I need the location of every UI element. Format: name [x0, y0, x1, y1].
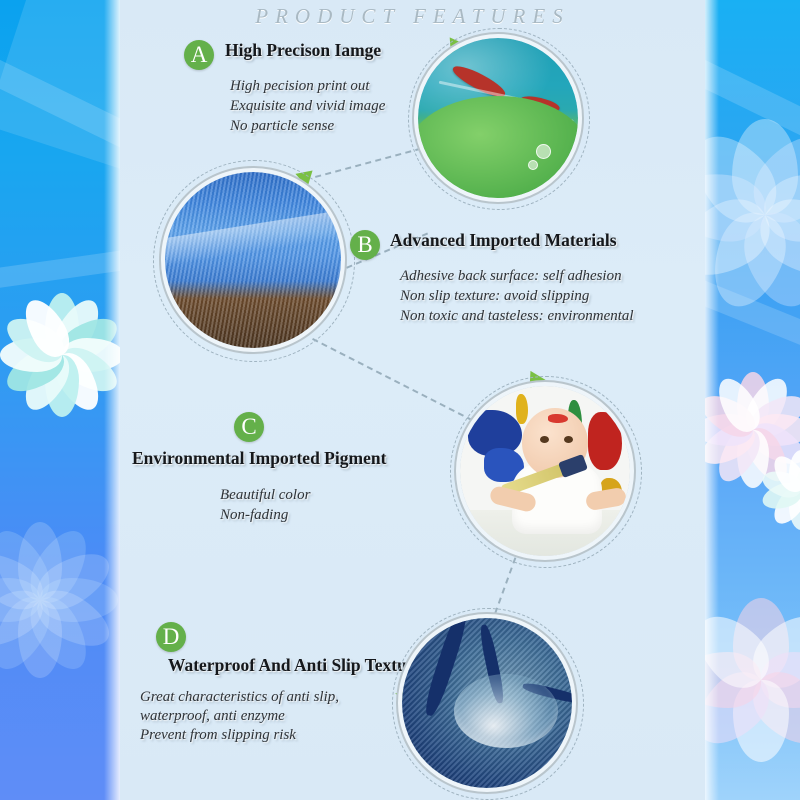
feature-heading-c: Environmental Imported Pigment — [132, 448, 386, 469]
bubble-shape — [528, 160, 538, 170]
feature-line: Non toxic and tasteless: environmental — [400, 306, 634, 326]
baby-eye — [540, 436, 549, 443]
content-panel: PRODUCT FEATURES A High Precison Iamge H… — [120, 0, 705, 800]
droplet-texture-artwork — [402, 618, 572, 788]
photo-inner — [418, 38, 578, 198]
feature-line: Exquisite and vivid image — [230, 96, 385, 116]
feature-line: Prevent from slipping risk — [140, 726, 339, 745]
paint-splatter — [588, 412, 622, 470]
feature-body-d: Great characteristics of anti slip, wate… — [140, 688, 339, 745]
fabric-roll-artwork — [165, 172, 341, 348]
feature-line: No particle sense — [230, 116, 385, 136]
feature-line: High pecision print out — [230, 76, 385, 96]
photo-koi-fish-pond — [418, 38, 578, 198]
feature-body-a: High pecision print out Exquisite and vi… — [230, 76, 385, 136]
koi-pond-artwork — [418, 38, 578, 198]
badge-letter-b: B — [350, 230, 380, 260]
badge-letter-d: D — [156, 622, 186, 652]
photo-inner — [402, 618, 572, 788]
feature-body-c: Beautiful color Non-fading — [220, 485, 310, 525]
right-decorative-border — [705, 0, 800, 800]
photo-inner — [460, 386, 630, 556]
baby-painting-artwork — [460, 386, 630, 556]
page-title: PRODUCT FEATURES — [120, 4, 705, 29]
decor-band — [0, 234, 120, 296]
paint-splatter — [548, 414, 568, 423]
baby-eye — [564, 436, 573, 443]
feature-line: Adhesive back surface: self adhesion — [400, 266, 634, 286]
feature-heading-b: Advanced Imported Materials — [390, 230, 617, 251]
photo-baby-painting — [460, 386, 630, 556]
product-features-poster: PRODUCT FEATURES A High Precison Iamge H… — [0, 0, 800, 800]
feature-line: Great characteristics of anti slip, — [140, 688, 339, 707]
feature-line: waterproof, anti enzyme — [140, 707, 339, 726]
feature-heading-a: High Precison Iamge — [225, 40, 381, 61]
left-decorative-border — [0, 0, 120, 800]
water-droplet-shape — [454, 674, 558, 748]
badge-letter-c: C — [234, 412, 264, 442]
photo-water-droplet-texture — [402, 618, 572, 788]
bubble-shape — [536, 144, 551, 159]
photo-inner — [165, 172, 341, 348]
paint-splatter — [516, 394, 528, 424]
lily-pad-shape — [418, 96, 578, 198]
feature-line: Non slip texture: avoid slipping — [400, 286, 634, 306]
feature-body-b: Adhesive back surface: self adhesion Non… — [400, 266, 634, 326]
feature-line: Beautiful color — [220, 485, 310, 505]
badge-letter-a: A — [184, 40, 214, 70]
feature-line: Non-fading — [220, 505, 310, 525]
photo-blue-fabric-roll — [165, 172, 341, 348]
fabric-highlight — [165, 209, 341, 268]
